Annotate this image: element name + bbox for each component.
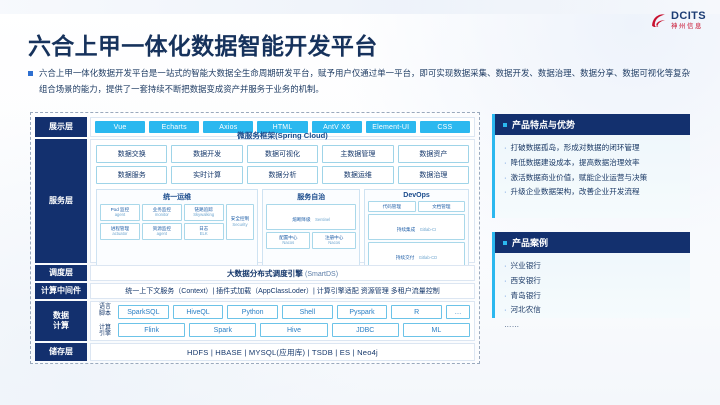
layer-schedule: 调度层 大数据分布式调度引擎 (SmartDS) bbox=[35, 265, 475, 281]
list-item-label: 西安银行 bbox=[511, 274, 541, 289]
cell-cn: 持续交付 bbox=[396, 255, 414, 260]
layer-label-storage: 储存层 bbox=[35, 343, 87, 361]
engine-label-l2: 引擎 bbox=[99, 331, 111, 337]
dot-bullet-icon: · bbox=[504, 303, 507, 318]
cell-en: Sentinel bbox=[315, 217, 330, 222]
list-item-label: 降低数据建设成本，提高数据治理效率 bbox=[511, 156, 640, 171]
service-module[interactable]: 主数据管理 bbox=[322, 145, 393, 163]
square-bullet-icon bbox=[503, 241, 507, 245]
engine-item[interactable]: Flink bbox=[118, 323, 185, 337]
panel-title: DevOps bbox=[368, 192, 465, 199]
microservice-framework-title: 微服务框架(Spring Cloud) bbox=[96, 129, 469, 142]
card-header: 产品案例 bbox=[495, 232, 690, 253]
layer-storage: 储存层 HDFS | HBASE | MYSQL(应用库) | TSDB | E… bbox=[35, 343, 475, 361]
compute-sub-labels: 语言 脚本 计算 引擎 bbox=[95, 304, 115, 339]
panel-title: 服务自治 bbox=[266, 192, 356, 202]
panel-devops: DevOps 代码管理 文档管理 bbox=[364, 189, 469, 273]
list-item-label: 河北农信 bbox=[511, 303, 541, 318]
layer-label-compute: 数据 计算 bbox=[35, 301, 87, 341]
ops-col-1: Pod 监控 agent 进程管理 actuator bbox=[100, 204, 140, 240]
ops-cell[interactable]: 日志 ELK bbox=[184, 223, 224, 240]
brand-logo: DCITS 神州信息 bbox=[650, 11, 706, 30]
engine-item[interactable]: Hive bbox=[260, 323, 327, 337]
cell-en: Security bbox=[232, 222, 247, 227]
lang-label-l1: 语言 bbox=[99, 304, 111, 310]
page-title: 六合上甲一体化数据智能开发平台 bbox=[28, 27, 378, 61]
engine-label-l1: 计算 bbox=[99, 325, 111, 331]
language-item[interactable]: R bbox=[391, 305, 442, 319]
list-item: ·打破数据孤岛，形成对数据的闭环管理 bbox=[504, 141, 681, 156]
list-item: ·兴业银行 bbox=[504, 259, 681, 274]
ops-cell[interactable]: 链路追踪 Skywalking bbox=[184, 204, 224, 221]
card-body: ·兴业银行 ·西安银行 ·青岛银行 ·河北农信 …… bbox=[495, 253, 690, 340]
compute-label-line1: 数据 bbox=[53, 311, 69, 320]
dot-bullet-icon: · bbox=[504, 185, 507, 200]
list-item-label: 青岛银行 bbox=[511, 289, 541, 304]
dot-bullet-icon: · bbox=[504, 141, 507, 156]
layer-label-presentation: 展示层 bbox=[35, 117, 87, 137]
devops-cell-ci[interactable]: 持续集成 Gitlab-CI bbox=[368, 214, 465, 240]
card-product-cases: 产品案例 ·兴业银行 ·西安银行 ·青岛银行 ·河北农信 …… bbox=[492, 232, 690, 318]
cell-en: agent bbox=[102, 212, 138, 217]
compute-label-line2: 计算 bbox=[53, 321, 69, 330]
language-item[interactable]: Pyspark bbox=[337, 305, 388, 319]
ops-cell[interactable]: 资源监控 agent bbox=[142, 223, 182, 240]
service-module[interactable]: 数据交换 bbox=[96, 145, 167, 163]
list-item-label: …… bbox=[504, 318, 519, 333]
dot-bullet-icon: · bbox=[504, 274, 507, 289]
schedule-engine-en: (SmartDS) bbox=[305, 271, 338, 278]
cell-en: Skywalking bbox=[186, 212, 222, 217]
cell-en: ELK bbox=[186, 231, 222, 236]
list-item-label: 打破数据孤岛，形成对数据的闭环管理 bbox=[511, 141, 640, 156]
cell-cn: 熔断降级 bbox=[292, 217, 310, 222]
card-title: 产品特点与优势 bbox=[512, 118, 575, 131]
service-module[interactable]: 数据开发 bbox=[171, 145, 242, 163]
card-product-advantages: 产品特点与优势 ·打破数据孤岛，形成对数据的闭环管理 ·降低数据建设成本，提高数… bbox=[492, 114, 690, 218]
square-bullet-icon bbox=[28, 71, 33, 76]
list-item: ·青岛银行 bbox=[504, 289, 681, 304]
card-body: ·打破数据孤岛，形成对数据的闭环管理 ·降低数据建设成本，提高数据治理效率 ·激… bbox=[495, 135, 690, 207]
cell-en: actuator bbox=[102, 231, 138, 236]
service-module-row-1: 数据交换 数据开发 数据可视化 主数据管理 数据资产 bbox=[96, 145, 469, 163]
language-item[interactable]: Shell bbox=[282, 305, 333, 319]
dot-bullet-icon: · bbox=[504, 171, 507, 186]
engine-item[interactable]: JDBC bbox=[332, 323, 399, 337]
storage-text: HDFS | HBASE | MYSQL(应用库) | TSDB | ES | … bbox=[91, 343, 474, 362]
list-item: ·降低数据建设成本，提高数据治理效率 bbox=[504, 156, 681, 171]
devops-cell-doc-mgmt[interactable]: 文档管理 bbox=[418, 201, 465, 213]
language-row: SparkSQL HiveQL Python Shell Pyspark R … bbox=[118, 305, 470, 319]
service-module-row-2: 数据服务 实时计算 数据分析 数据运维 数据治理 bbox=[96, 166, 469, 184]
service-module[interactable]: 实时计算 bbox=[171, 166, 242, 184]
service-module[interactable]: 数据分析 bbox=[247, 166, 318, 184]
architecture-diagram: 展示层 Vue Echarts Axios HTML AntV X6 Eleme… bbox=[30, 112, 480, 364]
dot-bullet-icon: · bbox=[504, 156, 507, 171]
service-module[interactable]: 数据服务 bbox=[96, 166, 167, 184]
ops-cell[interactable]: 业务监控 monitor bbox=[142, 204, 182, 221]
list-item: ·河北农信 bbox=[504, 303, 681, 318]
service-module[interactable]: 数据可视化 bbox=[247, 145, 318, 163]
lang-label-l2: 脚本 bbox=[99, 311, 111, 317]
engine-row: Flink Spark Hive JDBC ML bbox=[118, 323, 470, 337]
governance-cell-config-center[interactable]: 配置中心 Nacos bbox=[266, 232, 310, 249]
top-band bbox=[0, 0, 720, 14]
language-item[interactable]: Python bbox=[227, 305, 278, 319]
layer-service: 服务层 微服务框架(Spring Cloud) 数据交换 数据开发 数据可视化 … bbox=[35, 139, 475, 263]
language-item-more[interactable]: … bbox=[446, 305, 470, 319]
list-item: ·西安银行 bbox=[504, 274, 681, 289]
list-item-label: 升级企业数据架构，改善企业开发流程 bbox=[511, 185, 640, 200]
panel-service-governance: 服务自治 熔断降级 Sentinel 配置中心 Nacos bbox=[262, 189, 360, 273]
card-title: 产品案例 bbox=[512, 236, 548, 249]
devops-cell-code-mgmt[interactable]: 代码管理 bbox=[368, 201, 415, 213]
list-item-label: 激活数据商业价值，赋能企业运营与决策 bbox=[511, 171, 648, 186]
cell-en: Nacos bbox=[314, 240, 354, 245]
compute-engine-label: 计算 引擎 bbox=[95, 325, 115, 339]
language-item[interactable]: HiveQL bbox=[173, 305, 224, 319]
logo-text-cn: 神州信息 bbox=[671, 24, 706, 30]
layer-label-service: 服务层 bbox=[35, 139, 87, 263]
ops-cell[interactable]: 进程管理 actuator bbox=[100, 223, 140, 240]
layer-label-schedule: 调度层 bbox=[35, 265, 87, 281]
governance-cell-registry-center[interactable]: 注册中心 Nacos bbox=[312, 232, 356, 249]
ops-col-4: 安全控制 Security bbox=[226, 204, 255, 240]
service-module[interactable]: 数据资产 bbox=[398, 145, 469, 163]
ops-col-3: 链路追踪 Skywalking 日志 ELK bbox=[184, 204, 224, 240]
cell-en: Nacos bbox=[268, 240, 308, 245]
cell-en: Gitlab-CI bbox=[420, 227, 437, 232]
ops-cell-security[interactable]: 安全控制 Security bbox=[226, 204, 255, 240]
language-item[interactable]: SparkSQL bbox=[118, 305, 169, 319]
language-script-label: 语言 脚本 bbox=[95, 304, 115, 318]
cell-cn: 持续集成 bbox=[397, 227, 415, 232]
engine-item[interactable]: Spark bbox=[189, 323, 256, 337]
layer-middleware: 计算中间件 统一上下文服务（Context）| 插件式加载（AppClassLo… bbox=[35, 283, 475, 299]
list-item-ellipsis: …… bbox=[504, 318, 681, 333]
slide: DCITS 神州信息 六合上甲一体化数据智能开发平台 六合上甲一体化数据开发平台… bbox=[0, 0, 720, 405]
dcits-swirl-logo bbox=[650, 12, 667, 29]
engine-item[interactable]: ML bbox=[403, 323, 470, 337]
ops-col-2: 业务监控 monitor 资源监控 agent bbox=[142, 204, 182, 240]
dot-bullet-icon: · bbox=[504, 259, 507, 274]
schedule-engine-text: 大数据分布式调度引擎 (SmartDS) bbox=[91, 265, 474, 282]
layer-label-middleware: 计算中间件 bbox=[35, 283, 87, 299]
ops-cell[interactable]: Pod 监控 agent bbox=[100, 204, 140, 221]
middleware-text: 统一上下文服务（Context）| 插件式加载（AppClassLoder）| … bbox=[91, 283, 474, 299]
cell-en: agent bbox=[144, 231, 180, 236]
devops-col-1: 代码管理 bbox=[368, 201, 415, 213]
governance-col-1: 配置中心 Nacos bbox=[266, 232, 310, 249]
panel-title: 统一运维 bbox=[100, 192, 254, 202]
governance-col-2: 注册中心 Nacos bbox=[312, 232, 356, 249]
devops-col-2: 文档管理 bbox=[418, 201, 465, 213]
card-header: 产品特点与优势 bbox=[495, 114, 690, 135]
layer-compute: 数据 计算 语言 脚本 计算 引擎 bbox=[35, 301, 475, 341]
square-bullet-icon bbox=[503, 123, 507, 127]
logo-text-en: DCITS bbox=[671, 11, 706, 22]
list-item: ·升级企业数据架构，改善企业开发流程 bbox=[504, 185, 681, 200]
cell-cn: 代码管理 bbox=[370, 204, 413, 210]
cell-cn: 文档管理 bbox=[420, 204, 463, 210]
description-block: 六合上甲一体化数据开发平台是一站式的智能大数据全生命周期研发平台，赋予用户仅通过… bbox=[28, 66, 690, 97]
service-module[interactable]: 数据治理 bbox=[398, 166, 469, 184]
service-module[interactable]: 数据运维 bbox=[322, 166, 393, 184]
governance-cell-circuit-breaker[interactable]: 熔断降级 Sentinel bbox=[266, 204, 356, 230]
cell-en: Gitlab-CD bbox=[419, 255, 437, 260]
schedule-engine-cn: 大数据分布式调度引擎 bbox=[227, 269, 303, 278]
list-item-label: 兴业银行 bbox=[511, 259, 541, 274]
list-item: ·激活数据商业价值，赋能企业运营与决策 bbox=[504, 171, 681, 186]
panel-unified-ops: 统一运维 Pod 监控 agent 进程管理 bbox=[96, 189, 258, 273]
dot-bullet-icon: · bbox=[504, 289, 507, 304]
description-text: 六合上甲一体化数据开发平台是一站式的智能大数据全生命周期研发平台，赋予用户仅通过… bbox=[39, 66, 690, 97]
cell-en: monitor bbox=[144, 212, 180, 217]
